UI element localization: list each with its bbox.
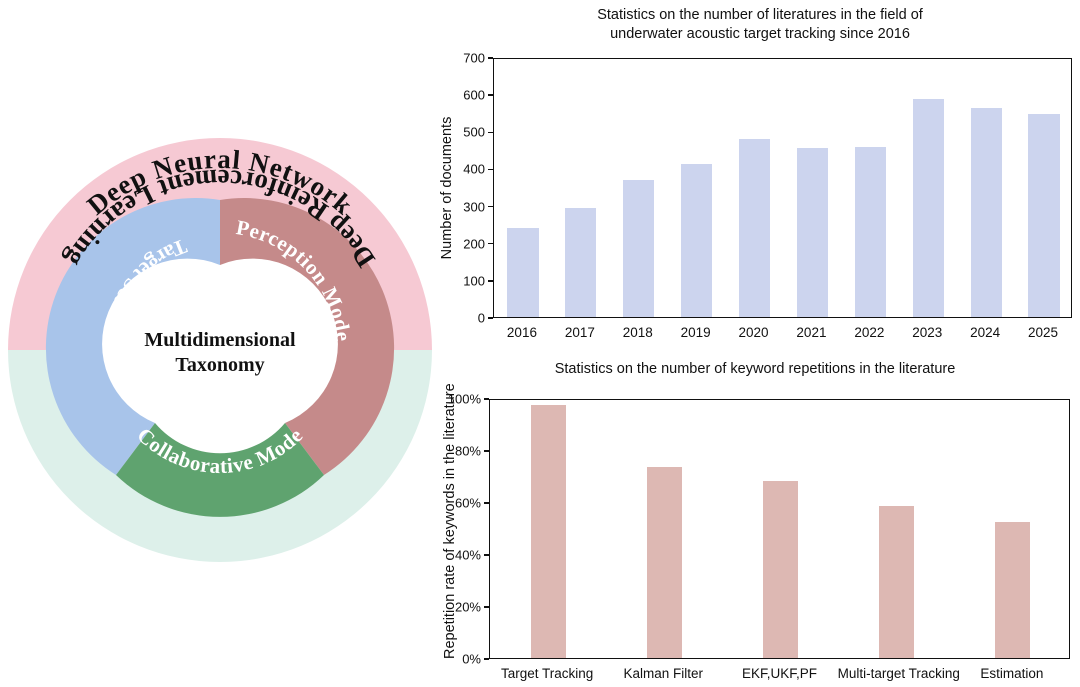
plot-area-keywords: 0%20%40%60%80%100%Target TrackingKalman … — [489, 399, 1070, 659]
bar-2023 — [913, 99, 944, 317]
plot-frame — [493, 58, 1072, 318]
bar-2024 — [971, 108, 1002, 317]
ytick-mark — [484, 554, 489, 556]
bar-2022 — [855, 147, 886, 317]
ytick-mark — [488, 57, 493, 59]
ytick-mark — [484, 398, 489, 400]
ytick-mark — [488, 317, 493, 319]
ytick-mark — [484, 450, 489, 452]
xtick-label: 2016 — [493, 325, 551, 340]
plot-frame — [489, 399, 1070, 659]
ytick-mark — [488, 132, 493, 134]
bar-2019 — [681, 164, 712, 317]
ytick-mark — [488, 169, 493, 171]
ytick-mark — [484, 502, 489, 504]
ytick-mark — [488, 206, 493, 208]
xtick-label: Multi-target Tracking — [838, 666, 954, 681]
bar-Multi-target Tracking — [879, 506, 914, 658]
chart-number-of-documents: Statistics on the number of literatures … — [440, 0, 1080, 350]
ytick-mark — [484, 658, 489, 660]
xtick-label: 2023 — [898, 325, 956, 340]
xtick-label: 2020 — [725, 325, 783, 340]
xtick-label: 2022 — [840, 325, 898, 340]
xtick-label: 2018 — [609, 325, 667, 340]
plot-area-documents: 0100200300400500600700201620172018201920… — [493, 58, 1072, 318]
ytick-label: 500 — [463, 125, 485, 140]
xtick-label: 2025 — [1014, 325, 1072, 340]
xtick-label: 2021 — [783, 325, 841, 340]
xtick-label: Target Tracking — [489, 666, 605, 681]
chart-title-documents-line1: Statistics on the number of literatures … — [440, 6, 1080, 25]
bar-2017 — [565, 208, 596, 317]
ytick-label: 0% — [462, 652, 481, 667]
ytick-mark — [488, 94, 493, 96]
xtick-label: Kalman Filter — [605, 666, 721, 681]
y-axis-label: Repetition rate of keywords in the liter… — [442, 399, 458, 659]
donut-center-line-2: Taxonomy — [175, 354, 264, 376]
ytick-label: 20% — [455, 600, 481, 615]
ytick-label: 80% — [455, 444, 481, 459]
bar-2021 — [797, 148, 828, 317]
ytick-label: 400 — [463, 162, 485, 177]
ytick-label: 200 — [463, 236, 485, 251]
xtick-label: Estimation — [954, 666, 1070, 681]
y-axis-label: Number of documents — [439, 58, 455, 318]
ytick-mark — [488, 280, 493, 282]
bar-Kalman Filter — [647, 467, 682, 658]
ytick-label: 60% — [455, 496, 481, 511]
ytick-label: 300 — [463, 199, 485, 214]
xtick-label: EKF,UKF,PF — [721, 666, 837, 681]
bar-2018 — [623, 180, 654, 317]
ytick-mark — [484, 606, 489, 608]
bar-2020 — [739, 139, 770, 317]
ytick-label: 600 — [463, 88, 485, 103]
ytick-label: 40% — [455, 548, 481, 563]
ytick-mark — [488, 243, 493, 245]
donut-center-line-1: Multidimensional — [144, 329, 296, 351]
multidimensional-taxonomy-donut: Deep Neural Network Deep Reinforcement L… — [0, 128, 440, 573]
ytick-label: 700 — [463, 51, 485, 66]
chart-title-documents: Statistics on the number of literatures … — [440, 0, 1080, 44]
ytick-label: 100 — [463, 273, 485, 288]
bar-EKF,UKF,PF — [763, 481, 798, 658]
xtick-label: 2019 — [667, 325, 725, 340]
bar-Estimation — [995, 522, 1030, 659]
chart-title-keywords: Statistics on the number of keyword repe… — [430, 352, 1080, 379]
xtick-label: 2024 — [956, 325, 1014, 340]
chart-keyword-repetition: Statistics on the number of keyword repe… — [430, 352, 1080, 687]
bar-Target Tracking — [531, 405, 566, 659]
figure-canvas: Deep Neural Network Deep Reinforcement L… — [0, 0, 1080, 687]
bar-2016 — [507, 228, 538, 317]
xtick-label: 2017 — [551, 325, 609, 340]
chart-title-keywords-line1: Statistics on the number of keyword repe… — [430, 360, 1080, 379]
chart-title-documents-line2: underwater acoustic target tracking sinc… — [440, 25, 1080, 44]
bar-2025 — [1028, 114, 1059, 317]
ytick-label: 0 — [478, 311, 485, 326]
